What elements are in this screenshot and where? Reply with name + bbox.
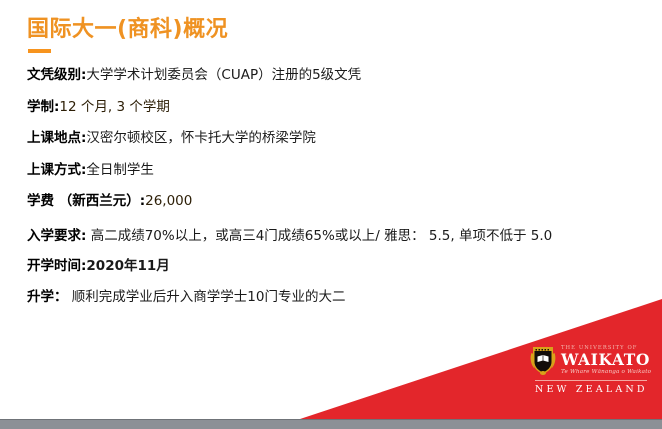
item-value: 26,000 bbox=[145, 193, 192, 209]
list-item: 上课方式:全日制学生 bbox=[27, 163, 647, 178]
item-value: 顺利完成学业后升入商学学士10门专业的大二 bbox=[68, 289, 346, 305]
item-label: 开学时间: bbox=[27, 258, 86, 274]
item-label: 文凭级别: bbox=[27, 67, 86, 83]
list-item: 上课地点:汉密尔顿校区，怀卡托大学的桥梁学院 bbox=[27, 131, 647, 146]
logo-name: WAIKATO bbox=[561, 352, 651, 368]
list-item: 开学时间:2020年11月 bbox=[27, 259, 647, 274]
list-item: 入学要求: 高二成绩70%以上，或高三4门成绩65%或以上/ 雅思： 5.5, … bbox=[27, 226, 647, 247]
item-label: 上课地点: bbox=[27, 130, 86, 146]
logo-country: NEW ZEALAND bbox=[535, 384, 647, 395]
list-item: 学制:12 个月, 3 个学期 bbox=[27, 100, 647, 115]
logo-top-row: THE UNIVERSITY OF WAIKATO Te Whare Wānan… bbox=[530, 345, 652, 376]
item-label: 上课方式: bbox=[27, 162, 86, 178]
item-value: 全日制学生 bbox=[86, 162, 154, 178]
logo-maori-text: Te Whare Wānanga o Waikato bbox=[561, 368, 651, 376]
content-list: 文凭级别:大学学术计划委员会（CUAP）注册的5级文凭 学制:12 个月, 3 … bbox=[27, 68, 647, 322]
item-value: 大学学术计划委员会（CUAP）注册的5级文凭 bbox=[86, 67, 361, 83]
logo-divider bbox=[535, 380, 647, 381]
list-item: 文凭级别:大学学术计划委员会（CUAP）注册的5级文凭 bbox=[27, 68, 647, 83]
slide-canvas: 国际大一(商科)概况 文凭级别:大学学术计划委员会（CUAP）注册的5级文凭 学… bbox=[0, 0, 662, 429]
list-item: 升学： 顺利完成学业后升入商学学士10门专业的大二 bbox=[27, 290, 647, 305]
item-label: 升学： bbox=[27, 289, 68, 305]
university-logo: THE UNIVERSITY OF WAIKATO Te Whare Wānan… bbox=[530, 345, 652, 407]
item-label: 入学要求: bbox=[27, 228, 86, 244]
page-title: 国际大一(商科)概况 bbox=[27, 11, 228, 43]
list-item: 学费 （新西兰元）:26,000 bbox=[27, 194, 647, 209]
item-value: 高二成绩70%以上，或高三4门成绩65%或以上/ 雅思： 5.5, 单项不低于 … bbox=[86, 228, 552, 244]
item-value: 2020年11月 bbox=[86, 258, 169, 274]
item-value: 12 个月, 3 个学期 bbox=[59, 99, 169, 115]
bottom-strip bbox=[0, 419, 662, 429]
item-value: 汉密尔顿校区，怀卡托大学的桥梁学院 bbox=[86, 130, 316, 146]
title-underline-rule bbox=[28, 49, 51, 53]
shield-crest-icon bbox=[530, 345, 556, 376]
item-label: 学费 （新西兰元）: bbox=[27, 193, 145, 209]
item-label: 学制: bbox=[27, 99, 59, 115]
logo-wordmark: THE UNIVERSITY OF WAIKATO Te Whare Wānan… bbox=[561, 345, 651, 376]
